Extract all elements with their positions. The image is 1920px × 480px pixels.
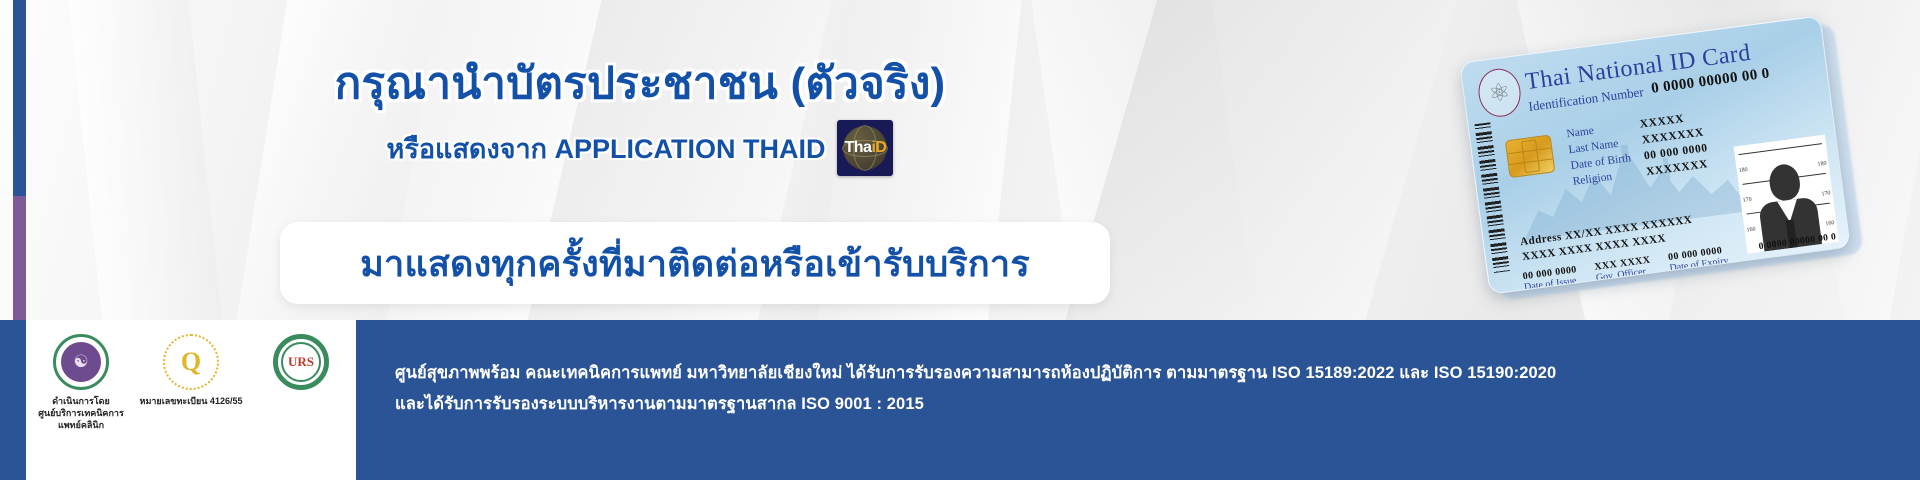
dmsc-quality-logo-icon: Q — [163, 334, 219, 390]
headline-secondary-row: หรือแสดงจาก APPLICATION THAID ThaiD — [150, 120, 1130, 176]
photo-tick-left: 160 — [1746, 227, 1756, 234]
logo-cell-urs: URS — [249, 334, 353, 395]
accent-bar-purple — [13, 196, 26, 320]
headline-block: กรุณานำบัตรประชาชน (ตัวจริง) หรือแสดงจาก… — [150, 60, 1130, 176]
card-field-value: XXXXX — [1639, 113, 1685, 131]
footer-text-line-2: และได้รับการรับรองระบบบริหารงานตามมาตรฐา… — [395, 389, 1875, 420]
photo-tick-left: 170 — [1742, 197, 1752, 204]
urs-iso-logo-icon: URS — [273, 334, 329, 390]
thai-national-id-card: ⚛ Thai National ID Card Identification N… — [1459, 15, 1850, 295]
cta-text: มาแสดงทุกครั้งที่มาติดต่อหรือเข้ารับบริก… — [360, 235, 1030, 292]
garuda-emblem-icon: ⚛ — [1476, 66, 1524, 119]
thaid-logo-id: iD — [871, 139, 886, 156]
headline-primary: กรุณานำบัตรประชาชน (ตัวจริง) — [150, 60, 1130, 108]
logo-cell-quality: Q หมายเลขทะเบียน 4126/55 — [139, 334, 243, 407]
thaid-logo-text: ThaiD — [844, 139, 886, 157]
thaid-logo-tha: Tha — [844, 139, 871, 156]
photo-tick-right: 170 — [1821, 190, 1831, 197]
dmsc-clinic-logo-icon: ☯ — [53, 334, 109, 390]
cta-callout-box: มาแสดงทุกครั้งที่มาติดต่อหรือเข้ารับบริก… — [280, 222, 1110, 304]
logo-caption-clinic: ดำเนินการโดย ศูนย์บริการเทคนิคการแพทย์คล… — [29, 395, 133, 431]
footer-logos: ☯ ดำเนินการโดย ศูนย์บริการเทคนิคการแพทย์… — [26, 320, 356, 480]
logo-caption-quality: หมายเลขทะเบียน 4126/55 — [139, 395, 243, 407]
photo-tick-right: 180 — [1817, 161, 1827, 168]
card-field-value: XXXXXXX — [1645, 158, 1708, 178]
photo-tick-right: 160 — [1825, 220, 1835, 227]
footer-accreditation-text: ศูนย์สุขภาพพร้อม คณะเทคนิคการแพทย์ มหาวิ… — [395, 358, 1875, 419]
logo-cell-clinic: ☯ ดำเนินการโดย ศูนย์บริการเทคนิคการแพทย์… — [29, 334, 133, 431]
id-card-illustration: ⚛ Thai National ID Card Identification N… — [1455, 20, 1885, 310]
headline-secondary: หรือแสดงจาก APPLICATION THAID — [387, 127, 826, 170]
accent-bar-blue — [13, 0, 26, 196]
footer-bar: ☯ ดำเนินการโดย ศูนย์บริการเทคนิคการแพทย์… — [0, 320, 1920, 480]
footer-text-line-1: ศูนย์สุขภาพพร้อม คณะเทคนิคการแพทย์ มหาวิ… — [395, 358, 1875, 389]
thaid-app-icon[interactable]: ThaiD — [837, 120, 893, 176]
smartcard-chip-icon — [1505, 134, 1556, 178]
photo-tick-left: 180 — [1738, 167, 1748, 174]
id-card-notice-banner: กรุณานำบัตรประชาชน (ตัวจริง) หรือแสดงจาก… — [0, 0, 1920, 480]
